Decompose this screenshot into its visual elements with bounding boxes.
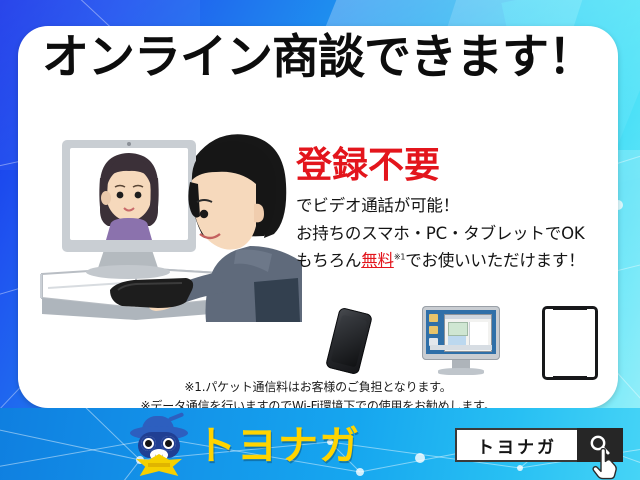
footnotes: ※1.パケット通信料はお客様のご負担となります。 ※データ通信を行いますのでWi… xyxy=(18,378,618,408)
copy-line-1: でビデオ通話が可能！ xyxy=(296,192,618,220)
desktop-pc-icon xyxy=(422,306,500,376)
copy-line-3-suffix: でお使いいただけます！ xyxy=(405,251,584,270)
search-input[interactable]: トヨナガ xyxy=(455,428,577,462)
lead-text: 登録不要 xyxy=(296,148,618,184)
content-card: オンライン商談できます！ xyxy=(18,26,618,408)
toyonaga-mascot-icon xyxy=(128,416,190,476)
footnote-1: ※1.パケット通信料はお客様のご負担となります。 xyxy=(18,378,618,397)
footnote-2: ※データ通信を行いますのでWi-Fi環境下での使用をお勧めします。 xyxy=(18,397,618,408)
video-call-illustration xyxy=(40,122,302,334)
smartphone-icon xyxy=(325,307,373,375)
tablet-icon xyxy=(542,306,598,380)
copy-line-3: もちろん無料※1でお使いいただけます！ xyxy=(296,247,618,275)
search-input-value: トヨナガ xyxy=(477,433,557,458)
bottom-bar: トヨナガ トヨナガ xyxy=(0,408,640,480)
free-highlight: 無料 xyxy=(361,251,394,270)
page-title: オンライン商談できます！ xyxy=(18,34,618,81)
device-icons-row xyxy=(318,304,618,376)
magnifier-icon xyxy=(588,433,612,457)
copy-block: 登録不要 でビデオ通話が可能！ お持ちのスマホ・PC・タブレットでOK もちろん… xyxy=(296,148,618,275)
copy-line-2: お持ちのスマホ・PC・タブレットでOK xyxy=(296,220,618,248)
brand-name: トヨナガ xyxy=(196,426,360,466)
search-button[interactable] xyxy=(577,428,623,462)
promo-banner: オンライン商談できます！ xyxy=(0,0,640,480)
brand-lockup[interactable]: トヨナガ xyxy=(128,414,360,478)
footnote-marker: ※1 xyxy=(394,253,405,262)
copy-line-3-prefix: もちろん xyxy=(296,251,361,270)
